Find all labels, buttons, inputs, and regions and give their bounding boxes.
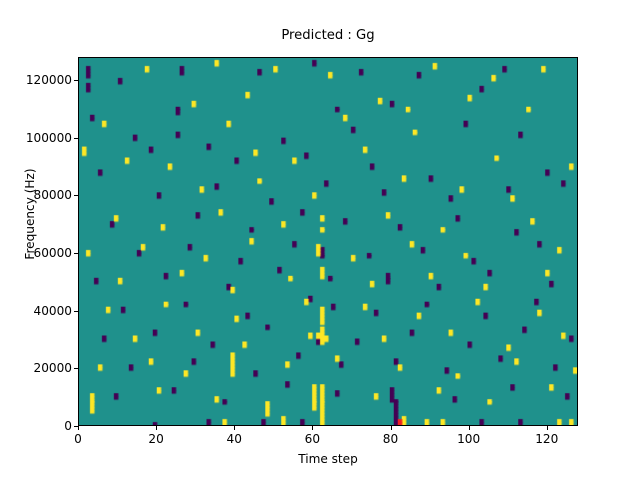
y-tick-mark xyxy=(74,80,78,81)
heatmap-canvas xyxy=(79,58,577,425)
x-tick-label: 60 xyxy=(282,432,342,446)
x-tick-label: 100 xyxy=(439,432,499,446)
y-tick-label: 20000 xyxy=(6,362,72,374)
x-tick-mark xyxy=(547,426,548,430)
chart-title: Predicted : Gg xyxy=(78,28,578,44)
y-tick-label: 120000 xyxy=(6,74,72,86)
x-axis-label: Time step xyxy=(78,452,578,466)
x-tick-mark xyxy=(312,426,313,430)
y-tick-mark xyxy=(74,253,78,254)
x-tick-label: 40 xyxy=(204,432,264,446)
y-tick-label: 80000 xyxy=(6,189,72,201)
y-tick-label: 100000 xyxy=(6,132,72,144)
x-tick-mark xyxy=(391,426,392,430)
x-tick-label: 0 xyxy=(48,432,108,446)
x-tick-mark xyxy=(156,426,157,430)
x-tick-label: 80 xyxy=(361,432,421,446)
y-axis-label: Frequency (Hz) xyxy=(23,139,37,289)
matplotlib-figure: Predicted : Gg 0200004000060000800001000… xyxy=(0,0,640,480)
y-tick-mark xyxy=(74,311,78,312)
y-tick-mark xyxy=(74,195,78,196)
y-tick-label: 60000 xyxy=(6,247,72,259)
x-tick-label: 120 xyxy=(517,432,577,446)
spectrogram-axes xyxy=(78,57,578,426)
x-tick-mark xyxy=(78,426,79,430)
x-tick-mark xyxy=(234,426,235,430)
y-tick-label: 40000 xyxy=(6,305,72,317)
y-tick-mark xyxy=(74,368,78,369)
x-tick-mark xyxy=(469,426,470,430)
y-tick-mark xyxy=(74,138,78,139)
x-tick-label: 20 xyxy=(126,432,186,446)
y-tick-label: 0 xyxy=(6,420,72,432)
